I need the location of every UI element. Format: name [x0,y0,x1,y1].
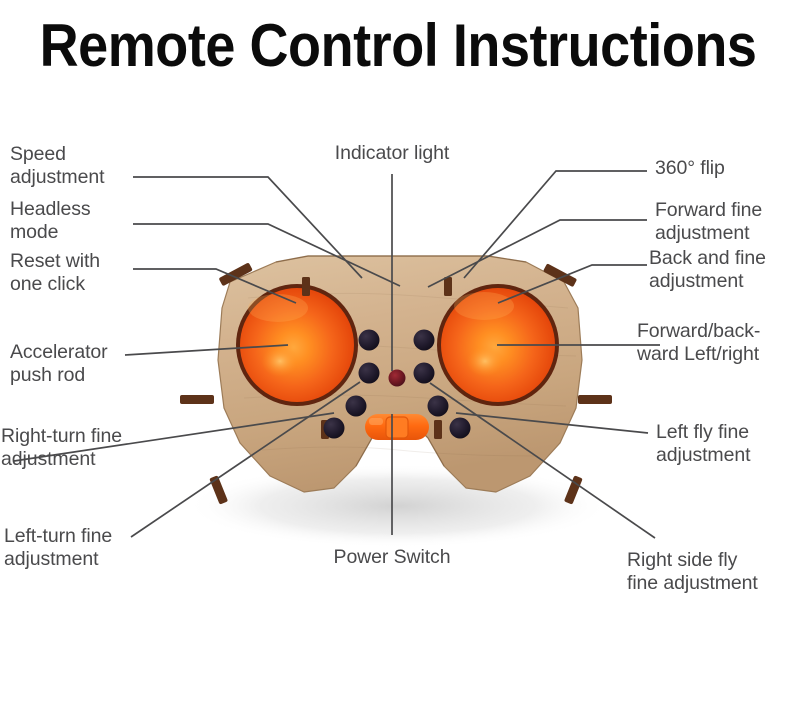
label-forward-fine: Forward fine adjustment [655,199,762,244]
trim-button-upper-right [414,330,435,351]
label-left-turn-fine: Left-turn fine adjustment [4,525,112,570]
remote-controller-image [158,238,630,548]
label-speed-adjustment: Speed adjustment [10,143,104,188]
trim-button-lower-left [346,396,367,417]
trim-button-bottom-right [450,418,471,439]
label-left-fly-fine: Left fly fine adjustment [656,421,750,466]
controller-shadow [186,464,610,548]
trim-button-mid-right [414,363,435,384]
indicator-led [389,370,406,387]
label-right-turn-fine: Right-turn fine adjustment [1,425,122,470]
label-headless-mode: Headless mode [10,198,91,243]
power-switch-slider [365,414,429,440]
label-right-side-fly-fine: Right side fly fine adjustment [627,549,758,594]
label-back-and-fine: Back and fine adjustment [649,247,766,292]
label-indicator-light: Indicator light [292,142,492,165]
label-reset-one-click: Reset with one click [10,250,100,295]
trim-button-bottom-left [324,418,345,439]
left-joystick-dome [236,284,358,406]
page-title: Remote Control Instructions [40,14,753,78]
trim-button-upper-left [359,330,380,351]
label-accelerator-push-rod: Accelerator push rod [10,341,108,386]
label-360-flip: 360° flip [655,157,725,180]
right-joystick-dome [437,284,559,406]
label-forward-backward-left-right: Forward/back- ward Left/right [637,320,760,365]
trim-button-mid-left [359,363,380,384]
label-power-switch: Power Switch [292,546,492,569]
trim-button-lower-right [428,396,449,417]
instruction-diagram-page: Remote Control Instructions [0,0,792,711]
